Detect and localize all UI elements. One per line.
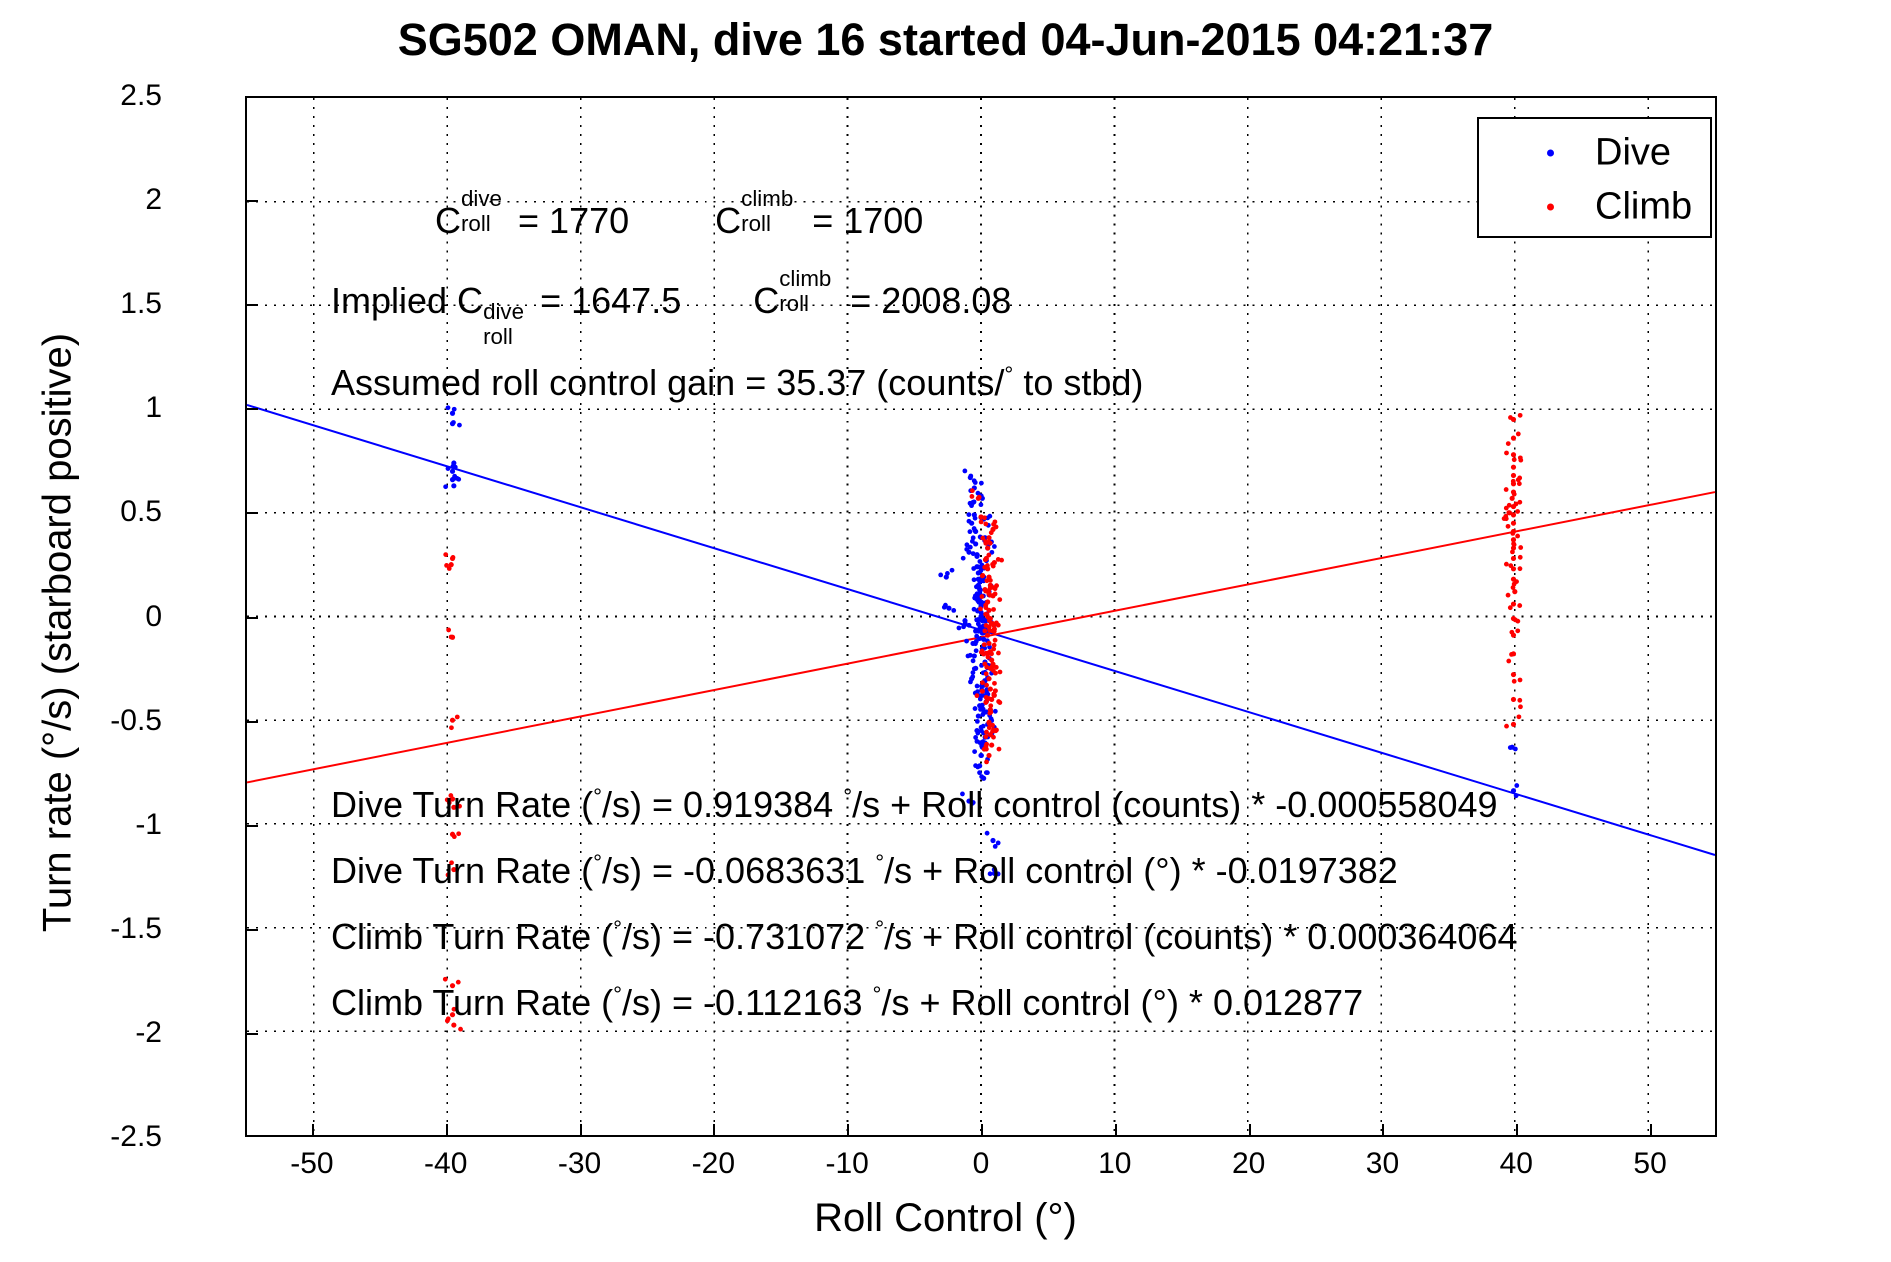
x-tick-label: 30: [1366, 1147, 1399, 1181]
c-dive-symbol: Cdiveroll: [435, 200, 461, 242]
implied-climb-subscript: roll: [779, 291, 809, 317]
legend: DiveClimb: [1477, 117, 1712, 238]
legend-marker-icon: [1547, 150, 1554, 157]
degree-symbol: °: [875, 850, 884, 875]
x-tick-mark: [580, 1124, 582, 1137]
y-tick-label: -0.5: [110, 704, 162, 738]
implied-dive-subscript: roll: [483, 324, 513, 350]
equation-prefix: Dive Turn Rate (: [331, 784, 593, 825]
y-tick-label: 0.5: [120, 495, 162, 529]
x-tick-mark: [1115, 1124, 1117, 1137]
chart-page: SG502 OMAN, dive 16 started 04-Jun-2015 …: [0, 0, 1891, 1262]
annotation-implied-row: Implied Cdiveroll = 1647.5 Cclimbroll = …: [331, 280, 1011, 322]
y-tick-mark: [245, 721, 258, 723]
y-tick-label: 1: [145, 391, 162, 425]
x-tick-label: 0: [973, 1147, 990, 1181]
gain-degree-symbol: °: [1004, 362, 1013, 387]
c-dive-subscript: roll: [461, 211, 491, 237]
y-tick-mark: [245, 929, 258, 931]
implied-dive-value: = 1647.5: [540, 280, 681, 321]
implied-climb-value: = 2008.08: [850, 280, 1011, 321]
equation-prefix: Climb Turn Rate (: [331, 916, 613, 957]
degree-symbol: °: [593, 784, 602, 809]
legend-item-dive[interactable]: Dive: [1479, 127, 1714, 179]
annotation-c-roll-row: Cdiveroll = 1770 Cclimbroll = 1700: [435, 200, 923, 242]
equation-suffix: /s + Roll control (counts) * -0.00055804…: [852, 784, 1497, 825]
x-tick-mark: [847, 1124, 849, 1137]
legend-marker-icon: [1547, 204, 1554, 211]
y-tick-label: -2.5: [110, 1120, 162, 1154]
implied-dive-superscript: dive: [483, 299, 524, 325]
c-dive-value: = 1770: [518, 200, 629, 241]
legend-label: Climb: [1595, 186, 1692, 229]
x-tick-mark: [1650, 1124, 1652, 1137]
y-tick-mark: [245, 408, 258, 410]
equation-middle: /s) = 0.919384: [602, 784, 843, 825]
equation-suffix: /s + Roll control (°) * -0.0197382: [884, 850, 1398, 891]
x-tick-mark: [312, 1124, 314, 1137]
x-tick-mark: [1516, 1124, 1518, 1137]
equation-prefix: Climb Turn Rate (: [331, 982, 613, 1023]
c-climb-symbol: Cclimbroll: [715, 200, 741, 242]
equation-suffix: /s + Roll control (°) * 0.012877: [881, 982, 1363, 1023]
x-tick-label: -10: [825, 1147, 868, 1181]
y-tick-label: 2.5: [120, 79, 162, 113]
c-climb-subscript: roll: [741, 211, 771, 237]
degree-symbol: °: [875, 916, 884, 941]
degree-symbol: °: [613, 982, 622, 1007]
x-tick-label: -40: [424, 1147, 467, 1181]
x-tick-label: 40: [1500, 1147, 1533, 1181]
x-tick-mark: [981, 1124, 983, 1137]
implied-climb-symbol: Cclimbroll: [753, 280, 779, 322]
x-tick-mark: [446, 1124, 448, 1137]
y-tick-mark: [245, 304, 258, 306]
equation-middle: /s) = -0.731072: [622, 916, 875, 957]
equation-suffix: /s + Roll control (counts) * 0.000364064: [884, 916, 1517, 957]
y-tick-mark: [245, 512, 258, 514]
x-tick-mark: [713, 1124, 715, 1137]
y-tick-mark: [245, 200, 258, 202]
y-tick-label: -2: [135, 1016, 162, 1050]
c-dive-superscript: dive: [461, 186, 502, 212]
implied-prefix: Implied C: [331, 280, 483, 321]
x-tick-label: -50: [290, 1147, 333, 1181]
equation-line-3: Climb Turn Rate (°/s) = -0.731072 °/s + …: [331, 916, 1518, 958]
y-tick-mark: [245, 1033, 258, 1035]
equation-middle: /s) = -0.112163: [622, 982, 873, 1023]
y-tick-label: -1.5: [110, 912, 162, 946]
implied-climb-superscript: climb: [779, 266, 831, 292]
y-tick-label: 0: [145, 600, 162, 634]
gain-text-a: Assumed roll control gain = 35.37 (count…: [331, 362, 1004, 403]
y-tick-label: 2: [145, 183, 162, 217]
gain-text-b: to stbd): [1013, 362, 1143, 403]
equation-line-2: Dive Turn Rate (°/s) = -0.0683631 °/s + …: [331, 850, 1398, 892]
c-climb-superscript: climb: [741, 186, 793, 212]
degree-symbol: °: [593, 850, 602, 875]
x-tick-label: -30: [558, 1147, 601, 1181]
x-tick-label: 50: [1633, 1147, 1666, 1181]
legend-label: Dive: [1595, 132, 1671, 175]
y-tick-mark: [245, 825, 258, 827]
equation-line-1: Dive Turn Rate (°/s) = 0.919384 °/s + Ro…: [331, 784, 1498, 826]
degree-symbol: °: [613, 916, 622, 941]
plot-area: Cdiveroll = 1770 Cclimbroll = 1700 Impli…: [245, 96, 1717, 1137]
x-tick-mark: [1382, 1124, 1384, 1137]
legend-item-climb[interactable]: Climb: [1479, 181, 1714, 233]
c-climb-value: = 1700: [812, 200, 923, 241]
x-tick-mark: [1249, 1124, 1251, 1137]
x-tick-label: 20: [1232, 1147, 1265, 1181]
y-tick-mark: [245, 617, 258, 619]
x-tick-label: -20: [692, 1147, 735, 1181]
equation-middle: /s) = -0.0683631: [602, 850, 875, 891]
page-title: SG502 OMAN, dive 16 started 04-Jun-2015 …: [0, 14, 1891, 66]
y-axis-label: Turn rate (°/s) (starboard positive): [36, 173, 81, 1093]
x-tick-label: 10: [1098, 1147, 1131, 1181]
y-tick-label: 1.5: [120, 287, 162, 321]
equation-line-4: Climb Turn Rate (°/s) = -0.112163 °/s + …: [331, 982, 1363, 1024]
data-layer: [247, 98, 1715, 1135]
plot-canvas: [247, 98, 1715, 1135]
annotation-gain: Assumed roll control gain = 35.37 (count…: [331, 362, 1143, 404]
equation-prefix: Dive Turn Rate (: [331, 850, 593, 891]
degree-symbol: °: [843, 784, 852, 809]
y-tick-label: -1: [135, 808, 162, 842]
x-axis-label: Roll Control (°): [0, 1196, 1891, 1241]
